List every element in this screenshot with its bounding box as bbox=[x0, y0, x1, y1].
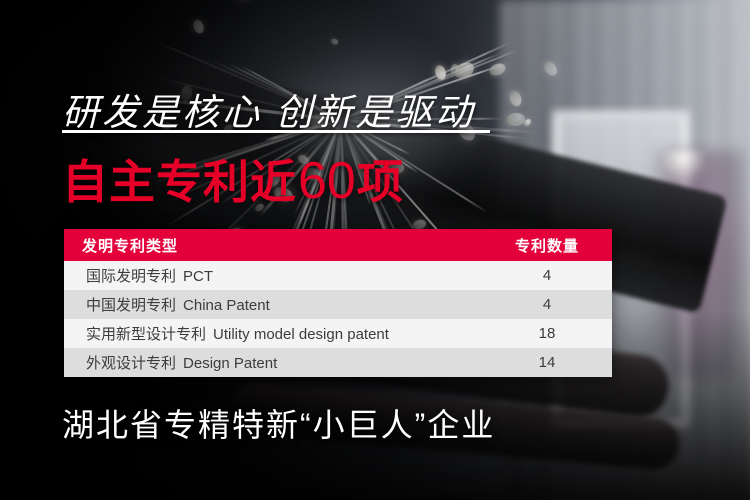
patent-type-cn: 国际发明专利 bbox=[86, 265, 176, 286]
table-row: 国际发明专利PCT4 bbox=[64, 261, 612, 290]
patent-table-body: 国际发明专利PCT4中国发明专利China Patent4实用新型设计专利Uti… bbox=[64, 261, 612, 377]
cell-patent-type: 实用新型设计专利Utility model design patent bbox=[64, 323, 482, 344]
patent-table: 发明专利类型 专利数量 国际发明专利PCT4中国发明专利China Patent… bbox=[64, 229, 612, 377]
subheadline-prefix: 自主专利近 bbox=[62, 146, 297, 212]
cell-patent-count: 4 bbox=[482, 267, 612, 284]
patent-table-header-row: 发明专利类型 专利数量 bbox=[64, 229, 612, 261]
poster-content: 研发是核心 创新是驱动 自主专利近 60 项 发明专利类型 专利数量 国际发明专… bbox=[0, 0, 750, 500]
column-header-patent-count: 专利数量 bbox=[482, 235, 612, 256]
patent-type-en: Design Patent bbox=[183, 355, 277, 372]
column-header-patent-type: 发明专利类型 bbox=[64, 235, 482, 256]
cell-patent-type: 国际发明专利PCT bbox=[64, 265, 482, 286]
headline-text: 研发是核心 创新是驱动 bbox=[62, 82, 475, 136]
cell-patent-type: 中国发明专利China Patent bbox=[64, 294, 482, 315]
headline-divider bbox=[62, 130, 490, 133]
cell-patent-type: 外观设计专利Design Patent bbox=[64, 352, 482, 373]
subheadline-text: 自主专利近 60 项 bbox=[62, 146, 404, 212]
patent-type-en: China Patent bbox=[183, 297, 270, 314]
patent-type-cn: 外观设计专利 bbox=[86, 352, 176, 373]
subheadline-suffix: 项 bbox=[357, 146, 404, 212]
cell-patent-count: 4 bbox=[482, 296, 612, 313]
table-row: 中国发明专利China Patent4 bbox=[64, 290, 612, 319]
table-row: 实用新型设计专利Utility model design patent18 bbox=[64, 319, 612, 348]
cell-patent-count: 18 bbox=[482, 325, 612, 342]
patent-type-en: PCT bbox=[183, 268, 213, 285]
patent-total-number: 60 bbox=[298, 151, 356, 211]
cell-patent-count: 14 bbox=[482, 354, 612, 371]
footer-text: 湖北省专精特新“小巨人”企业 bbox=[62, 400, 495, 446]
table-row: 外观设计专利Design Patent14 bbox=[64, 348, 612, 377]
patent-type-en: Utility model design patent bbox=[213, 326, 389, 343]
patent-promo-poster: 研发是核心 创新是驱动 自主专利近 60 项 发明专利类型 专利数量 国际发明专… bbox=[0, 0, 750, 500]
patent-type-cn: 中国发明专利 bbox=[86, 294, 176, 315]
patent-type-cn: 实用新型设计专利 bbox=[86, 323, 206, 344]
